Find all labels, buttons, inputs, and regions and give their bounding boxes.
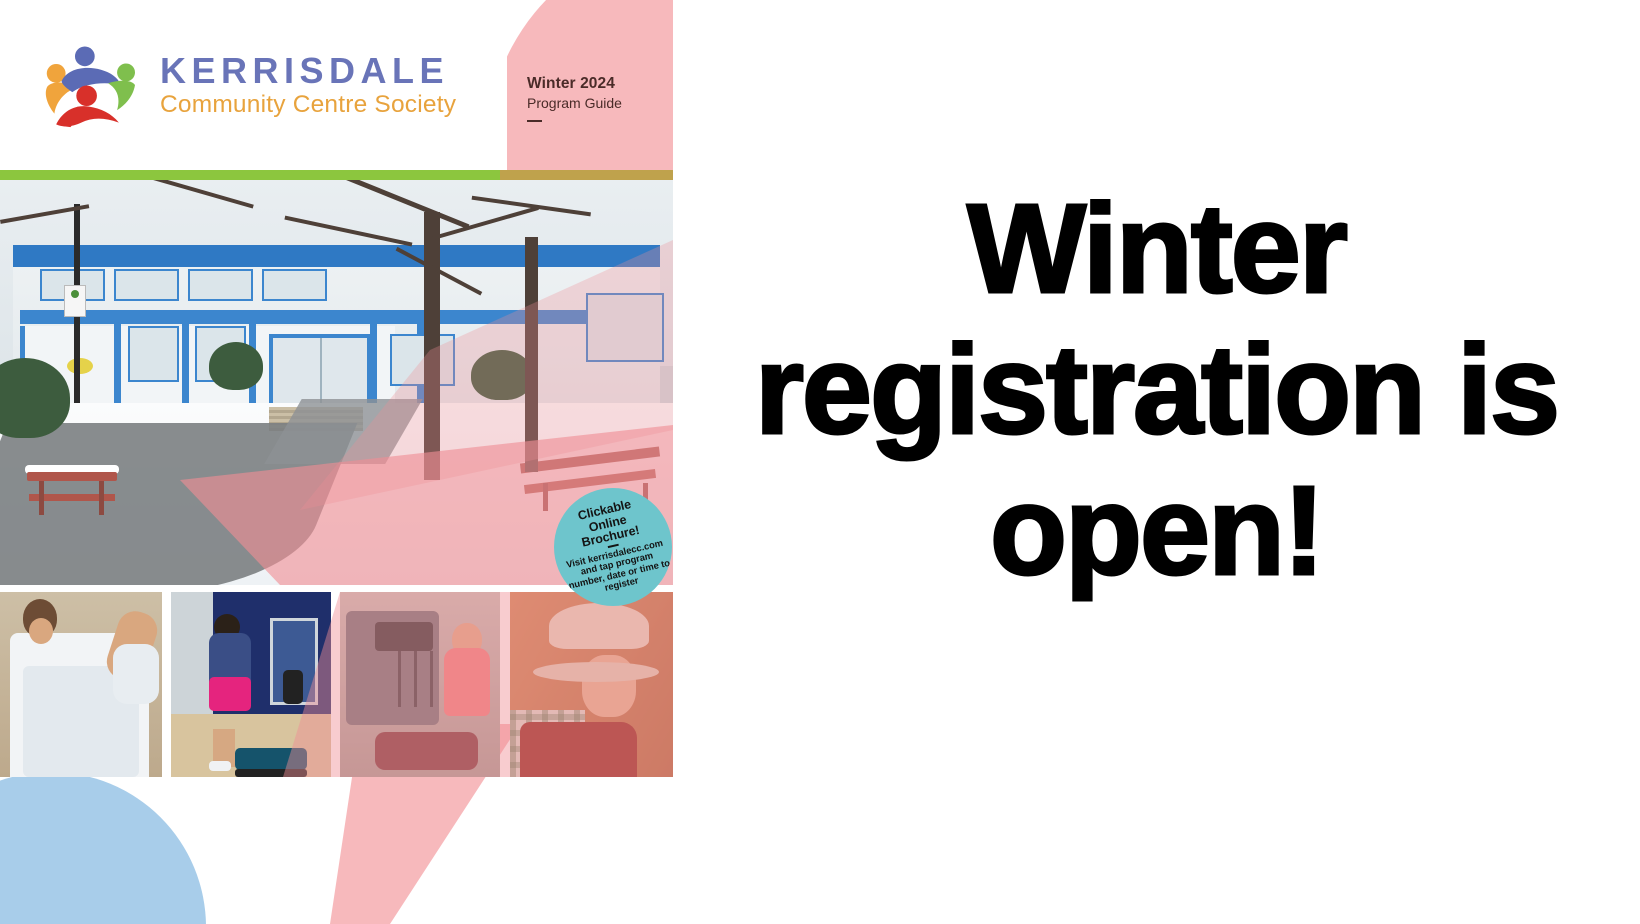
headline-panel: Winter registration is open! — [673, 0, 1640, 924]
program-photo-strip — [0, 592, 673, 777]
logo-title: KERRISDALE — [160, 53, 456, 89]
thumbnail-fitness-class — [171, 592, 331, 777]
badge-body-text: Visit kerrisdalecc.com and tap program n… — [562, 537, 672, 602]
slide-canvas: KERRISDALE Community Centre Society Wint… — [0, 0, 1640, 924]
green-divider-accent — [500, 170, 673, 180]
photo-picnic-table — [27, 472, 117, 518]
thumbnail-seniors-program — [510, 592, 673, 777]
clickable-online-brochure-badge[interactable]: Clickable Online Brochure! Visit kerrisd… — [554, 488, 672, 606]
season-block: Winter 2024 Program Guide — [527, 74, 622, 122]
photo-window — [114, 269, 179, 301]
season-rule — [527, 120, 542, 122]
photo-window — [390, 334, 455, 387]
photo-shrub — [471, 350, 533, 400]
photo-window — [586, 293, 664, 362]
photo-tree-trunk — [525, 237, 538, 472]
blue-circle-decoration — [0, 772, 206, 924]
photo-shrub — [209, 342, 263, 390]
photo-window — [188, 269, 253, 301]
logo-wordmark: KERRISDALE Community Centre Society — [160, 53, 456, 118]
kerrisdale-people-circle-logo — [38, 42, 146, 128]
program-guide-cover-panel: KERRISDALE Community Centre Society Wint… — [0, 0, 673, 924]
logo-subtitle: Community Centre Society — [160, 93, 456, 118]
photo-tree-trunk — [424, 212, 440, 479]
season-subtitle: Program Guide — [527, 95, 622, 113]
kerrisdale-logo: KERRISDALE Community Centre Society — [38, 42, 456, 128]
photo-roof-band — [13, 245, 659, 267]
season-title: Winter 2024 — [527, 74, 622, 93]
photo-pole-sign — [64, 285, 86, 317]
page-title: Winter registration is open! — [717, 178, 1597, 601]
thumbnail-karate — [0, 592, 162, 777]
photo-canopy — [20, 310, 612, 324]
photo-window — [262, 269, 327, 301]
photo-window — [128, 326, 179, 383]
thumbnail-weight-room — [340, 592, 500, 777]
